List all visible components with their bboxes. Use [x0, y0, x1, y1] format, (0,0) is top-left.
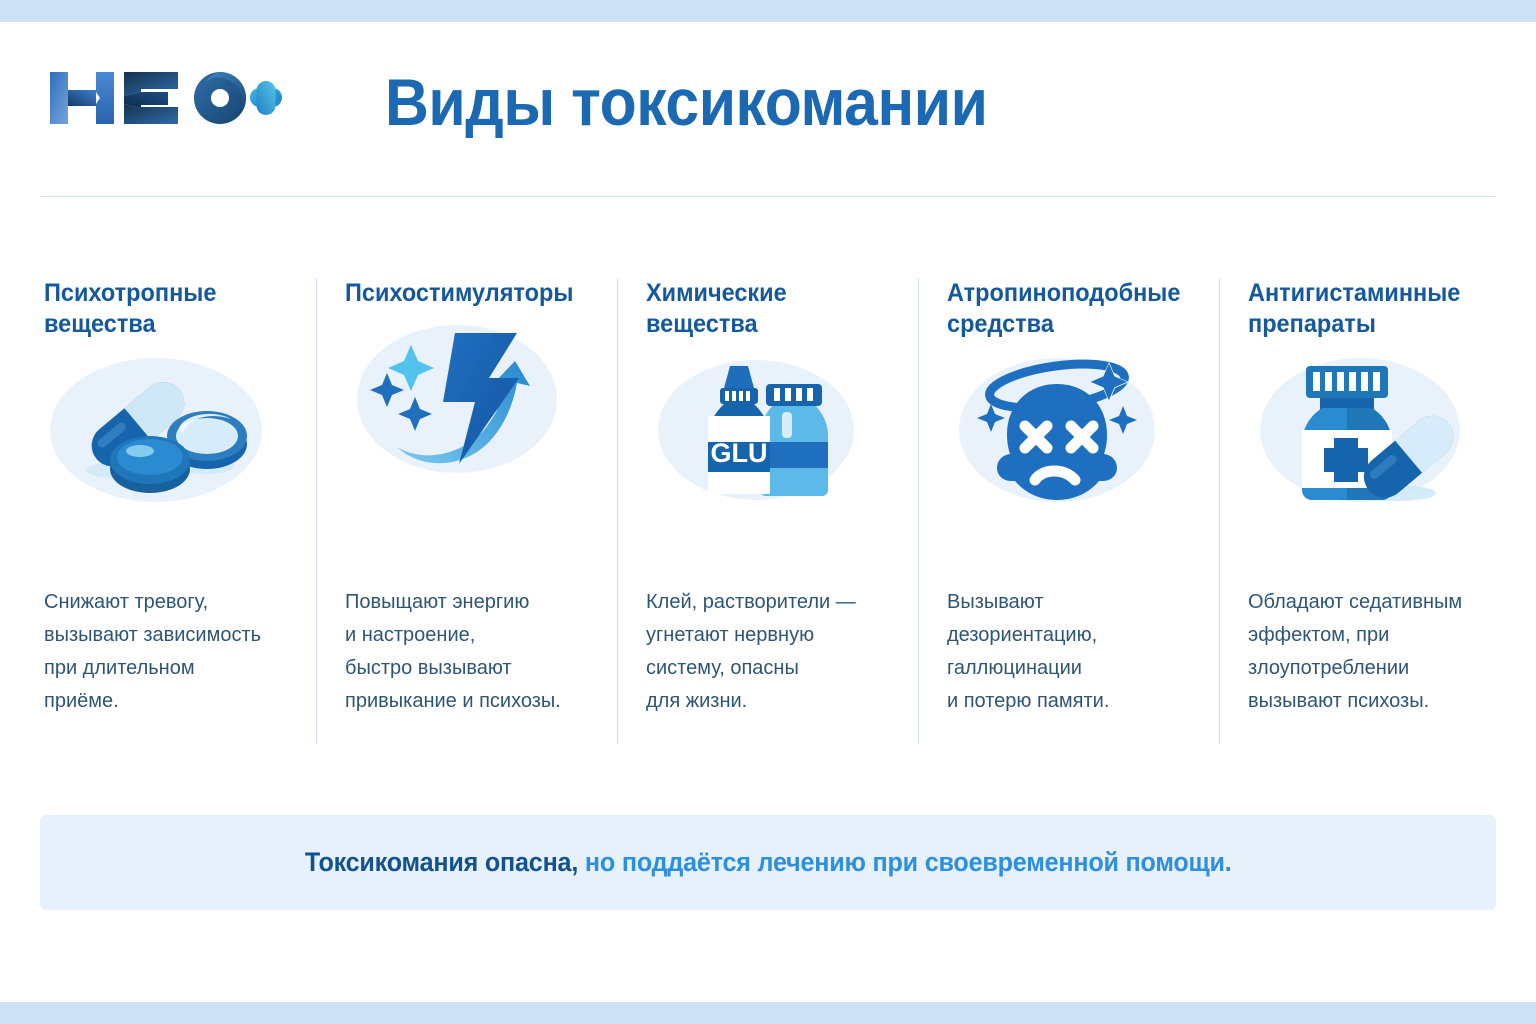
category-title: Атропиноподобные средства — [947, 278, 1182, 340]
footer-banner-text: Токсикомания опасна, но поддаётся лечени… — [305, 847, 1232, 878]
category-card-psychostimulants: Психостимуляторы — [316, 278, 617, 744]
category-description: Повыщают энергию и настроение, быстро вы… — [345, 586, 595, 718]
category-card-atropine-like: Атропиноподобные средства — [918, 278, 1219, 744]
category-card-chemical: Химические вещества — [617, 278, 918, 744]
infographic-page: Виды токсикомании Психотропные вещества — [0, 0, 1536, 1024]
category-description: Клей, растворители — угнетают нервную си… — [646, 586, 896, 718]
glue-solvent-bottles-icon: GLU — [646, 346, 896, 514]
medicine-bottle-capsule-icon — [1248, 346, 1498, 514]
category-title: Антигистаминные препараты — [1248, 278, 1483, 340]
glue-label: GLU — [711, 438, 768, 468]
category-card-psychotropic: Психотропные вещества — [40, 278, 316, 744]
neo-plus-logo[interactable] — [44, 62, 284, 134]
category-title: Химические вещества — [646, 278, 881, 340]
pills-capsule-icon — [44, 346, 294, 514]
category-card-antihistamine: Антигистаминные препараты — [1219, 278, 1520, 744]
footer-banner-strong: Токсикомания опасна, — [305, 847, 578, 877]
category-title: Психотропные вещества — [44, 278, 279, 340]
dizzy-face-icon — [947, 346, 1197, 514]
category-description: Снижают тревогу, вызывают зависимость пр… — [44, 586, 294, 718]
top-accent-strip — [0, 0, 1536, 22]
category-description: Обладают седативным эффектом, при злоупо… — [1248, 586, 1498, 718]
category-description: Вызывают дезориентацию, галлюцинации и п… — [947, 586, 1197, 718]
bottom-accent-strip — [0, 1002, 1536, 1024]
header: Виды токсикомании — [0, 22, 1536, 190]
header-divider — [40, 196, 1496, 197]
footer-banner: Токсикомания опасна, но поддаётся лечени… — [40, 815, 1496, 910]
page-title: Виды токсикомании — [385, 66, 987, 138]
category-columns: Психотропные вещества — [40, 278, 1496, 744]
category-title: Психостимуляторы — [345, 278, 580, 309]
footer-banner-rest: но поддаётся лечению при своевременной п… — [578, 847, 1231, 877]
lightning-bolt-arrow-icon — [345, 315, 595, 483]
